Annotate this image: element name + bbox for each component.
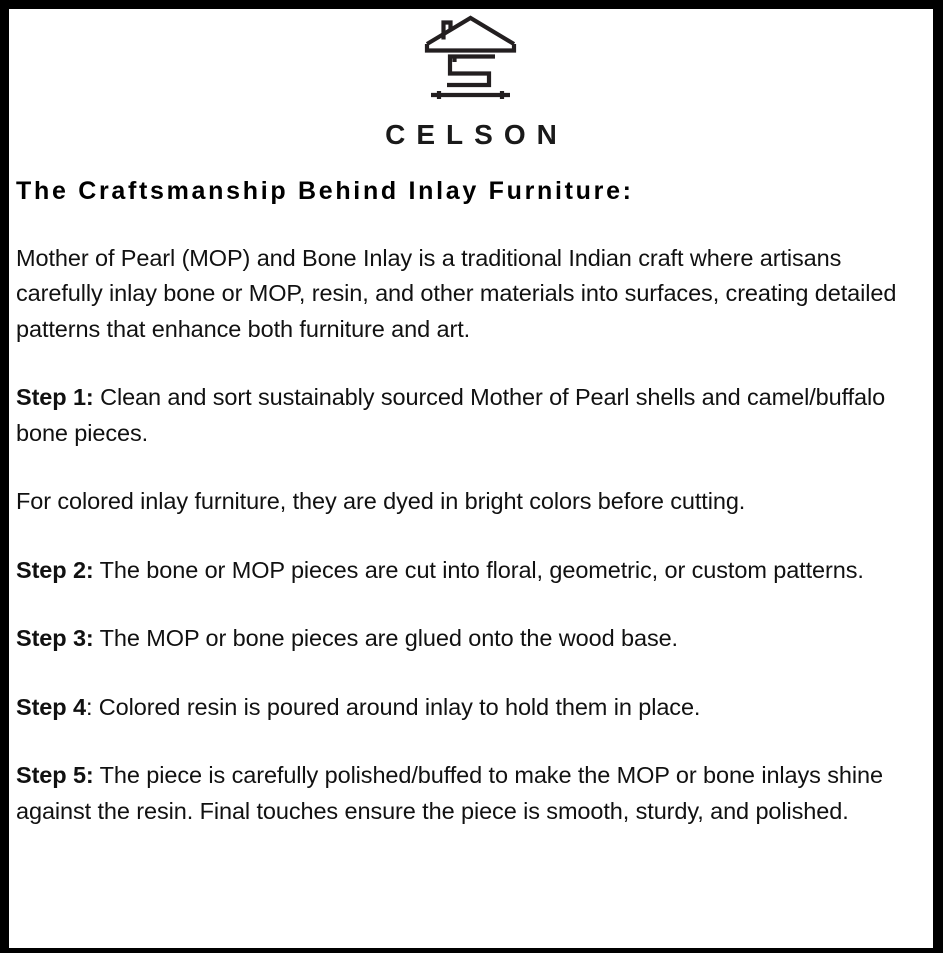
step-4-paragraph: Step 4: Colored resin is poured around i… — [16, 690, 897, 726]
step-5-text: The piece is carefully polished/buffed t… — [16, 762, 883, 824]
brand-wordmark: CELSON — [9, 121, 933, 149]
step-1-text: Clean and sort sustainably sourced Mothe… — [16, 384, 885, 446]
step-5-label: Step 5: — [16, 762, 94, 788]
brand-logo-block: CELSON — [9, 9, 933, 149]
article-content: The Craftsmanship Behind Inlay Furniture… — [9, 177, 933, 829]
step-5-paragraph: Step 5: The piece is carefully polished/… — [16, 758, 897, 829]
step-3-paragraph: Step 3: The MOP or bone pieces are glued… — [16, 621, 897, 657]
spacer — [16, 347, 897, 380]
dye-note-paragraph: For colored inlay furniture, they are dy… — [16, 484, 897, 520]
step-3-text: The MOP or bone pieces are glued onto th… — [94, 625, 678, 651]
house-with-s-monogram-icon — [423, 13, 519, 113]
step-1-paragraph: Step 1: Clean and sort sustainably sourc… — [16, 380, 897, 451]
page-title: The Craftsmanship Behind Inlay Furniture… — [16, 177, 897, 206]
step-2-text: The bone or MOP pieces are cut into flor… — [94, 557, 864, 583]
step-4-label: Step 4 — [16, 694, 86, 720]
spacer — [16, 657, 897, 690]
step-2-label: Step 2: — [16, 557, 94, 583]
step-2-paragraph: Step 2: The bone or MOP pieces are cut i… — [16, 553, 897, 589]
spacer — [16, 588, 897, 621]
poster-body: CELSON The Craftsmanship Behind Inlay Fu… — [9, 9, 933, 948]
spacer — [16, 451, 897, 484]
step-1-label: Step 1: — [16, 384, 94, 410]
step-4-text: : Colored resin is poured around inlay t… — [86, 694, 700, 720]
spacer — [16, 206, 897, 241]
step-3-label: Step 3: — [16, 625, 94, 651]
spacer — [16, 725, 897, 758]
spacer — [16, 520, 897, 553]
poster-frame: CELSON The Craftsmanship Behind Inlay Fu… — [0, 0, 943, 953]
intro-paragraph: Mother of Pearl (MOP) and Bone Inlay is … — [16, 241, 897, 348]
